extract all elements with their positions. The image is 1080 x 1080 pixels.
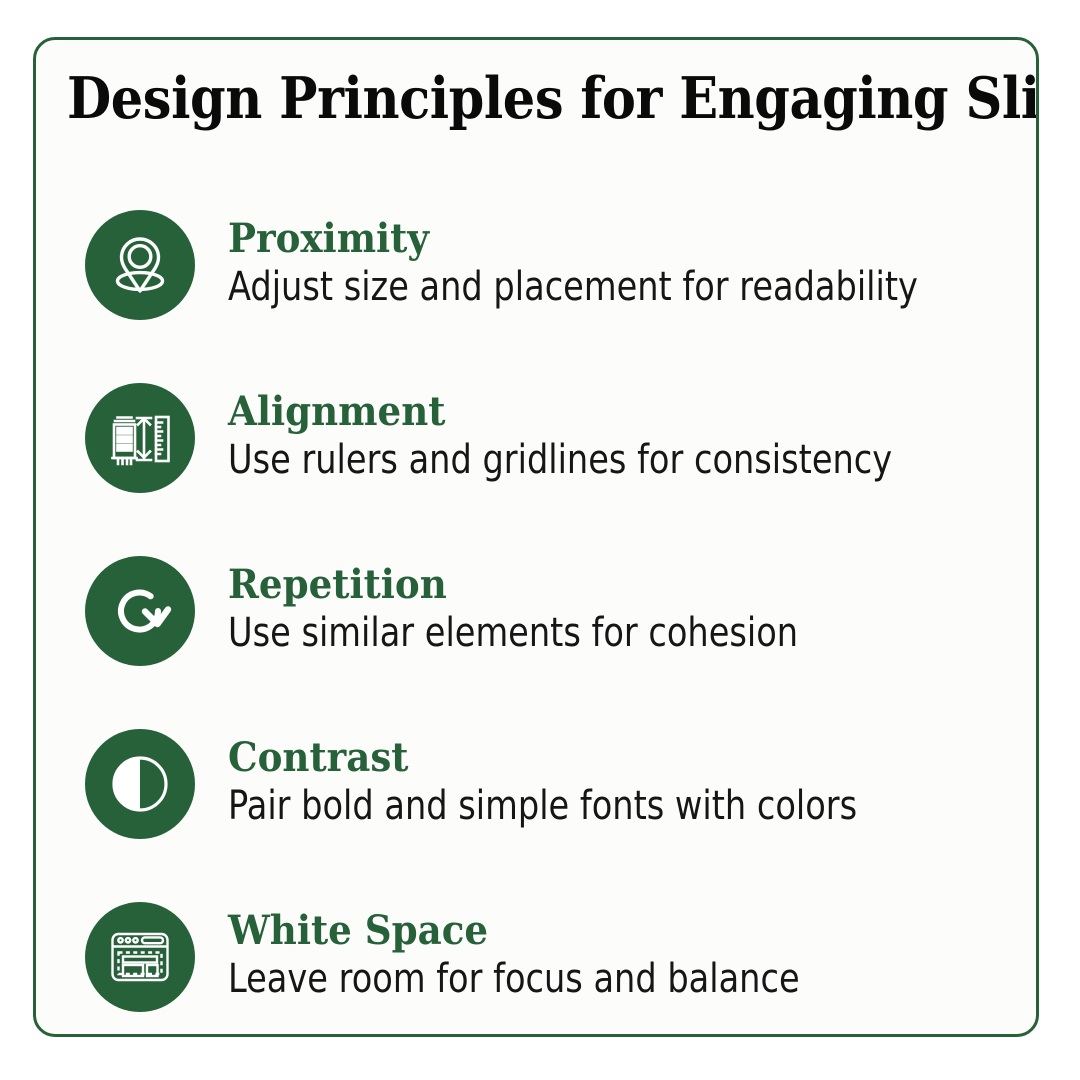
list-item[interactable]: White Space Leave room for focus and bal… <box>36 870 1036 1037</box>
list-item[interactable]: Alignment Use rulers and gridlines for c… <box>36 351 1036 524</box>
principle-description: Pair bold and simple fonts with colors <box>228 781 907 831</box>
principle-heading: White Space <box>228 908 979 954</box>
principle-heading: Contrast <box>228 735 979 781</box>
list-item[interactable]: Contrast Pair bold and simple fonts with… <box>36 697 1036 870</box>
list-item-text: White Space Leave room for focus and bal… <box>228 908 1036 1006</box>
list-item-text: Proximity Adjust size and placement for … <box>228 216 1039 314</box>
list-item-text: Contrast Pair bold and simple fonts with… <box>228 735 1036 833</box>
list-item-text: Repetition Use similar elements for cohe… <box>228 562 1036 660</box>
principle-description: Leave room for focus and balance <box>228 954 907 1004</box>
principle-description: Use rulers and gridlines for consistency <box>228 435 907 485</box>
principle-description: Use similar elements for cohesion <box>228 608 907 658</box>
list-item[interactable]: Proximity Adjust size and placement for … <box>36 178 1036 351</box>
page-title: Design Principles for Engaging Slides <box>67 66 912 132</box>
slide-card: Design Principles for Engaging Slides Pr… <box>33 37 1039 1037</box>
list-item[interactable]: Repetition Use similar elements for cohe… <box>36 524 1036 697</box>
refresh-circle-arrow-icon <box>85 556 195 666</box>
principle-heading: Proximity <box>228 216 992 262</box>
location-pin-icon <box>85 210 195 320</box>
principle-heading: Repetition <box>228 562 979 608</box>
browser-layout-icon <box>85 902 195 1012</box>
contrast-half-circle-icon <box>85 729 195 839</box>
list-item-text: Alignment Use rulers and gridlines for c… <box>228 389 1036 487</box>
ruler-building-icon <box>85 383 195 493</box>
principles-list: Proximity Adjust size and placement for … <box>36 178 1036 1037</box>
principle-description: Adjust size and placement for readabilit… <box>228 262 918 312</box>
principle-heading: Alignment <box>228 389 979 435</box>
